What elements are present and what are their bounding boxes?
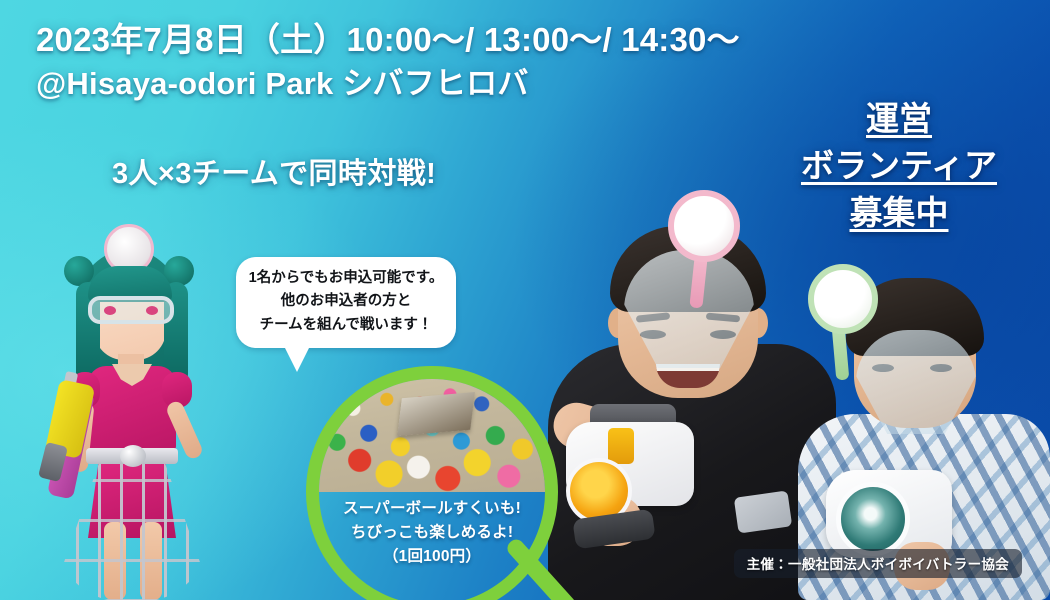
kid-target-paddle-icon: [808, 264, 878, 334]
volunteer-recruitment-callout: 運営 ボランティア 募集中: [774, 96, 1024, 237]
superball-caption-line-3: （1回100円）: [319, 545, 545, 569]
organizer-credit-bar: 主催：一般社団法人ボイボイバトラー協会: [734, 549, 1022, 578]
event-venue: @Hisaya-odori Park シバフヒロバ: [36, 64, 740, 105]
volunteer-line-2: ボランティア: [774, 143, 1024, 190]
kid-participant-photo: [798, 238, 1050, 600]
event-poster: 2023年7月8日（土）10:00〜/ 13:00〜/ 14:30〜 @Hisa…: [0, 0, 1050, 600]
character-belt-buckle: [120, 445, 146, 467]
bubble-line-3: チームを組んで戦います！: [244, 314, 448, 337]
superball-magnifier-inset: スーパーボールすくいも! ちびっこも楽しめるよ! （1回100円）: [306, 366, 558, 600]
superball-caption-line-2: ちびっこも楽しめるよ!: [319, 521, 545, 545]
character-cage-skirt: [54, 458, 210, 600]
volunteer-line-1: 運営: [774, 96, 1024, 143]
event-headline: 2023年7月8日（土）10:00〜/ 13:00〜/ 14:30〜 @Hisa…: [36, 18, 740, 104]
superball-caption: スーパーボールすくいも! ちびっこも楽しめるよ! （1回100円）: [319, 497, 545, 569]
superball-pool-board: [397, 392, 475, 437]
kid-watergun-muzzle: [836, 482, 910, 556]
character-eye-left: [104, 306, 116, 315]
bubble-line-2: 他のお申込者の方と: [244, 290, 448, 313]
character-eye-right: [146, 306, 158, 315]
application-info-speech-bubble: 1名からでもお申込可能です。 他のお申込者の方と チームを組んで戦います！: [236, 257, 456, 348]
event-date-time: 2023年7月8日（土）10:00〜/ 13:00〜/ 14:30〜: [36, 18, 740, 62]
volunteer-line-3: 募集中: [774, 190, 1024, 237]
superball-caption-line-1: スーパーボールすくいも!: [319, 497, 545, 521]
adult-participant-photo: [540, 196, 840, 600]
superball-photo: [319, 379, 545, 492]
magnifier-ring: スーパーボールすくいも! ちびっこも楽しめるよ! （1回100円）: [306, 366, 558, 600]
adult-target-paddle-icon: [668, 190, 740, 262]
event-format-subhead: 3人×3チームで同時対戦!: [112, 150, 436, 192]
character-goggles-icon: [88, 296, 174, 324]
character-illustration: [36, 222, 226, 600]
adult-watergun-tank: [608, 428, 634, 464]
adult-tshirt-logo: [734, 490, 792, 533]
bubble-line-1: 1名からでもお申込可能です。: [244, 267, 448, 290]
